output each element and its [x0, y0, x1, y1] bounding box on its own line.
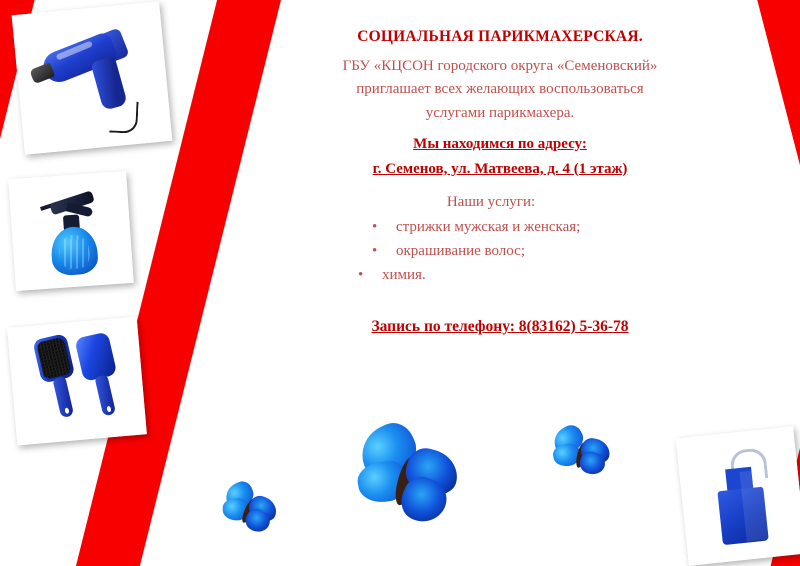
hair-brushes-photo — [7, 317, 147, 446]
service-item-label: стрижки мужская и женская; — [396, 219, 580, 235]
poster-title: СОЦИАЛЬНАЯ ПАРИКМАХЕРСКАЯ. — [290, 28, 710, 46]
service-item-label: окрашивание волос; — [396, 243, 525, 259]
hair-dryer-cord — [109, 101, 138, 134]
bullet-icon: • — [372, 239, 377, 263]
address-line: г. Семенов, ул. Матвеева, д. 4 (1 этаж) — [290, 161, 710, 178]
service-item: • стрижки мужская и женская; — [358, 215, 710, 239]
apron-icon — [676, 426, 800, 566]
phone-line: Запись по телефону: 8(83162) 5-36-78 — [290, 318, 710, 336]
address-heading: Мы находимся по адресу: — [290, 136, 710, 153]
bullet-icon: • — [358, 263, 363, 287]
hair-dryer-nozzle — [29, 62, 55, 84]
invitation-line-1: приглашает всех желающих воспользоваться — [290, 78, 710, 101]
service-item: • химия. — [358, 263, 710, 287]
hair-brushes-icon — [7, 317, 147, 446]
butterfly-small-left-icon — [219, 479, 282, 537]
brush-handle — [95, 375, 117, 417]
brush-handle — [52, 376, 74, 418]
services-heading: Наши услуги: — [358, 194, 710, 211]
spray-bottle-icon — [8, 171, 134, 291]
hair-dryer-photo — [12, 1, 173, 155]
invitation-line-2: услугами парикмахера. — [290, 102, 710, 125]
organization-line: ГБУ «КЦСОН городского округа «Семеновски… — [290, 55, 710, 78]
service-item: • окрашивание волос; — [358, 239, 710, 263]
poster-text-block: СОЦИАЛЬНАЯ ПАРИКМАХЕРСКАЯ. ГБУ «КЦСОН го… — [290, 28, 710, 336]
brush-pad — [74, 331, 117, 382]
hair-dryer-icon — [12, 1, 173, 155]
poster-canvas: СОЦИАЛЬНАЯ ПАРИКМАХЕРСКАЯ. ГБУ «КЦСОН го… — [0, 0, 800, 566]
butterfly-large-icon — [352, 424, 462, 528]
butterfly-small-right-icon — [550, 422, 614, 480]
service-item-label: химия. — [382, 267, 426, 283]
bullet-icon: • — [372, 215, 377, 239]
spray-bottle-body — [50, 225, 99, 276]
spray-bottle-photo — [8, 171, 134, 291]
services-list: Наши услуги: • стрижки мужская и женская… — [290, 194, 710, 288]
apron-photo — [676, 426, 800, 566]
